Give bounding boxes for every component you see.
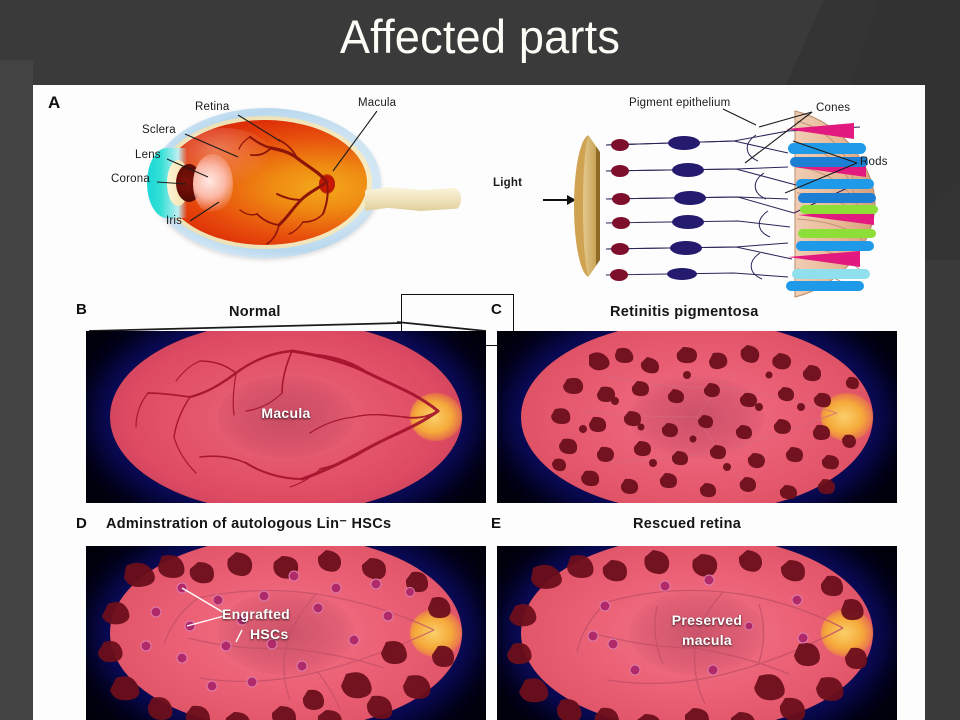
fundus-image-normal: Macula (86, 331, 486, 503)
background-left-strip (0, 60, 33, 720)
panel-e-title: Rescued retina (633, 516, 741, 532)
label-lens: Lens (135, 149, 161, 161)
label-corona: Corona (111, 173, 150, 185)
label-cones: Cones (816, 102, 850, 114)
label-rods: Rods (860, 156, 888, 168)
panel-d-letter: D (76, 515, 87, 532)
photoreceptor-cells-diagram (488, 109, 925, 299)
fundus-image-hsc-administration: Engrafted HSCs (86, 546, 486, 720)
panel-a-letter: A (48, 93, 60, 113)
panel-a: A Retina Sclera Lens Corona Iris Macula … (33, 85, 925, 300)
page-title: Affected parts (19, 4, 941, 74)
fundus-image-rescued-retina: Preserved macula (497, 546, 897, 720)
macula-in-field-label: Macula (226, 405, 346, 421)
panel-c-title: Retinitis pigmentosa (610, 304, 759, 320)
label-macula: Macula (358, 97, 396, 109)
panel-d-title: Adminstration of autologous Lin⁻ HSCs (106, 516, 391, 532)
engrafted-label-line2: HSCs (250, 626, 410, 642)
bone-spicule-pigmentation (497, 331, 897, 503)
panel-b-title: Normal (229, 304, 281, 320)
label-light: Light (493, 177, 522, 189)
preserved-label-line2: macula (627, 632, 787, 648)
label-pigment-epithelium: Pigment epithelium (629, 97, 730, 109)
label-sclera: Sclera (142, 124, 176, 136)
label-iris: Iris (166, 215, 182, 227)
photoreceptor-schematic (488, 109, 925, 299)
figure-image: A Retina Sclera Lens Corona Iris Macula … (33, 85, 925, 720)
preserved-label-line1: Preserved (627, 612, 787, 628)
eye-cross-section-illustration (151, 108, 381, 258)
engrafted-label-line1: Engrafted (222, 606, 382, 622)
retinal-vessels-illustration (151, 108, 381, 258)
fundus-image-retinitis-pigmentosa (497, 331, 897, 503)
panel-b-letter: B (76, 301, 87, 318)
label-retina: Retina (195, 101, 229, 113)
panel-e-letter: E (491, 515, 501, 532)
panel-c-letter: C (491, 301, 502, 318)
